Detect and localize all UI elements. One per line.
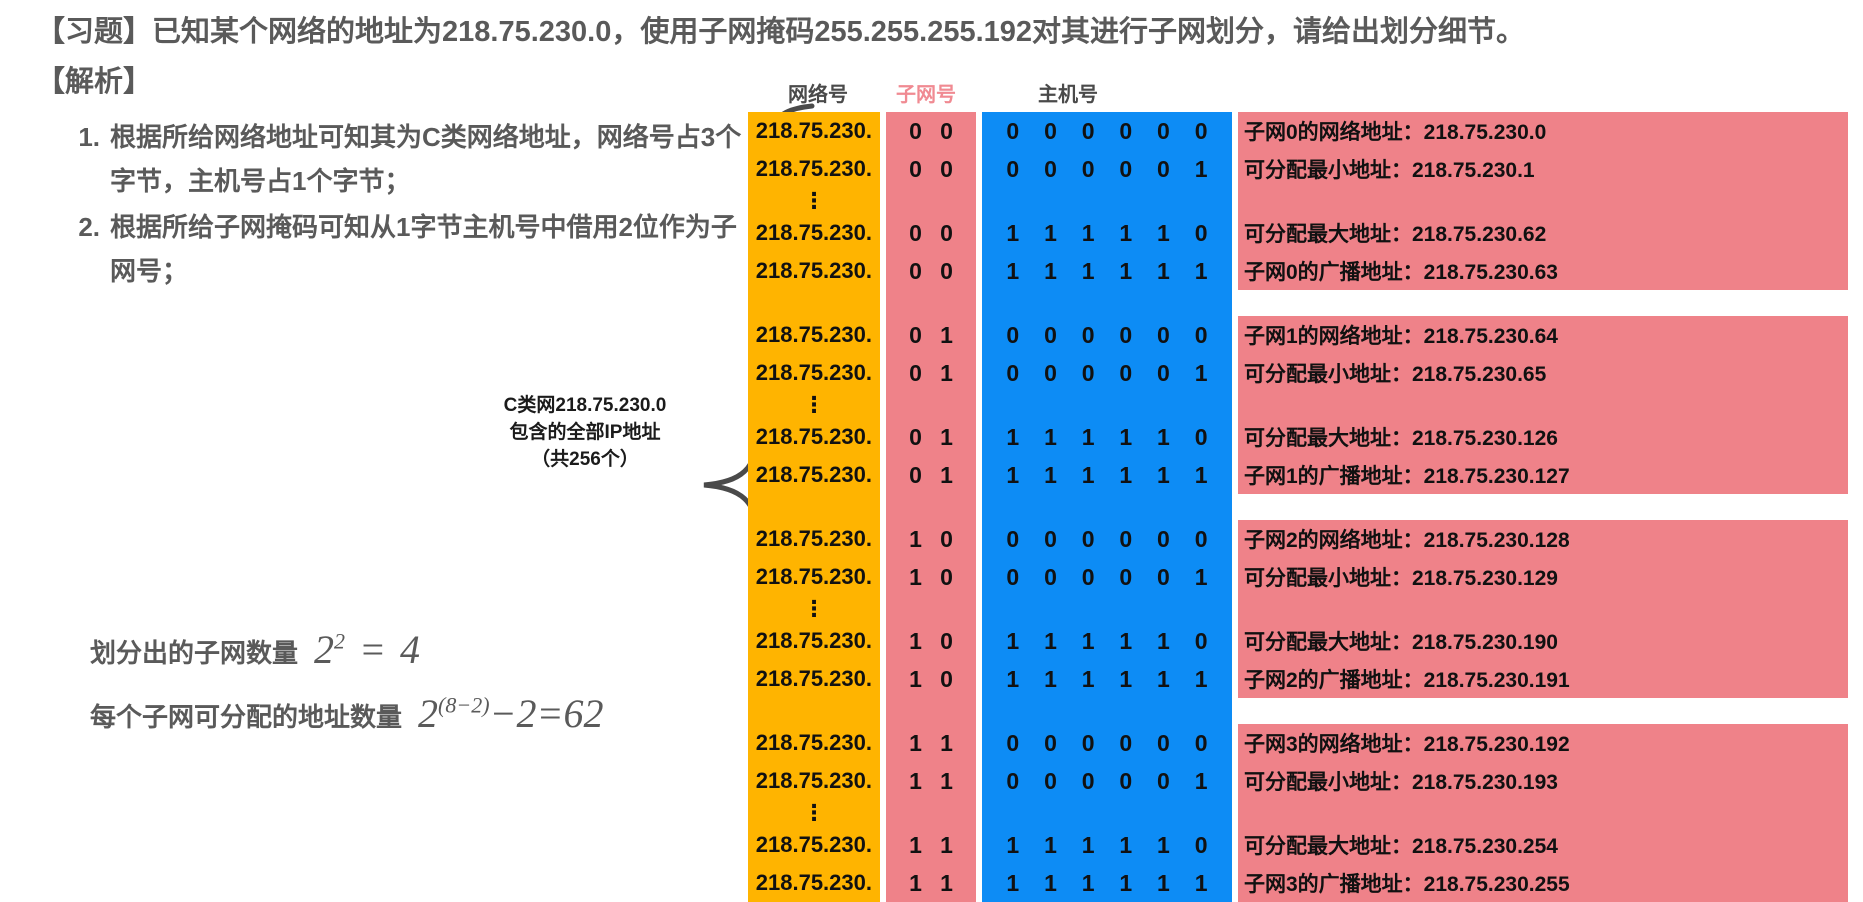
table-row: 218.75.230.10111111子网2的广播地址：218.75.230.1… [748, 660, 1848, 698]
host-bit: 0 [1044, 322, 1057, 349]
network-prefix-cell: 218.75.230. [748, 214, 880, 252]
column-header-subnet: 子网号 [896, 78, 956, 107]
host-bits-cell [982, 800, 1232, 826]
host-bit: 1 [1119, 424, 1132, 451]
host-bits-cell [982, 494, 1232, 520]
address-description: 子网0的广播地址：218.75.230.63 [1238, 252, 1848, 290]
brace-annotation: C类网218.75.230.0 包含的全部IP地址 （共256个） [470, 392, 700, 473]
network-prefix-cell: 218.75.230. [748, 150, 880, 188]
host-bit: 0 [1006, 156, 1019, 183]
formula-block: 划分出的子网数量 22=4 每个子网可分配的地址数量 2(8−2)−2=62 [90, 630, 750, 758]
address-description: 可分配最小地址：218.75.230.1 [1238, 150, 1848, 188]
table-row: ⋮ [748, 596, 1848, 622]
network-prefix-cell: 218.75.230. [748, 252, 880, 290]
host-bits-cell: 000000 [982, 316, 1232, 354]
network-prefix-cell: 218.75.230. [748, 864, 880, 902]
host-bit: 0 [1044, 156, 1057, 183]
table-row: 218.75.230.11111111子网3的广播地址：218.75.230.2… [748, 864, 1848, 902]
host-bits-cell [982, 392, 1232, 418]
host-bit: 1 [1044, 424, 1057, 451]
address-description-empty [1238, 188, 1848, 214]
network-prefix-cell: 218.75.230. [748, 558, 880, 596]
host-bit: 0 [1195, 730, 1208, 757]
host-bit: 0 [1119, 360, 1132, 387]
host-bit: 1 [1006, 424, 1019, 451]
table-row: 218.75.230.10111110可分配最大地址：218.75.230.19… [748, 622, 1848, 660]
table-row: ⋮ [748, 188, 1848, 214]
network-prefix-cell [748, 494, 880, 520]
formula-host-count: 每个子网可分配的地址数量 2(8−2)−2=62 [90, 694, 750, 734]
subnet-bit: 1 [940, 462, 953, 489]
subnet-bit: 0 [909, 156, 922, 183]
subnet-bits-cell: 10 [886, 558, 976, 596]
host-bits-cell: 000000 [982, 112, 1232, 150]
host-bit: 0 [1157, 564, 1170, 591]
host-bit: 1 [1006, 666, 1019, 693]
host-bit: 0 [1195, 322, 1208, 349]
host-bit: 0 [1195, 832, 1208, 859]
subnet-bits-cell [886, 494, 976, 520]
subnet-bits-cell: 00 [886, 214, 976, 252]
host-bits-cell: 000001 [982, 558, 1232, 596]
address-description-empty [1238, 596, 1848, 622]
address-description: 子网2的网络地址：218.75.230.128 [1238, 520, 1848, 558]
subnet-table: 网络号 子网号 主机号 218.75.230.00000000子网0的网络地址：… [748, 78, 1848, 902]
host-bit: 0 [1044, 118, 1057, 145]
host-bits-cell [982, 596, 1232, 622]
network-ellipsis: ⋮ [748, 596, 880, 622]
host-bits-cell: 111111 [982, 456, 1232, 494]
host-bits-cell: 000001 [982, 150, 1232, 188]
page-title: 【习题】已知某个网络的地址为218.75.230.0，使用子网掩码255.255… [36, 8, 1846, 50]
host-bit: 0 [1195, 628, 1208, 655]
host-bit: 0 [1157, 156, 1170, 183]
host-bit: 0 [1157, 768, 1170, 795]
host-bit: 0 [1044, 526, 1057, 553]
host-bit: 0 [1195, 424, 1208, 451]
subnet-bit: 1 [940, 360, 953, 387]
formula-subnet-count: 划分出的子网数量 22=4 [90, 630, 750, 670]
vertical-dots-icon: ⋮ [748, 803, 880, 823]
host-bit: 0 [1082, 564, 1095, 591]
subnet-bits-cell: 00 [886, 112, 976, 150]
host-bit: 1 [1119, 258, 1132, 285]
table-row: 218.75.230.11000000子网3的网络地址：218.75.230.1… [748, 724, 1848, 762]
host-bit: 0 [1157, 730, 1170, 757]
table-row: 218.75.230.01111110可分配最大地址：218.75.230.12… [748, 418, 1848, 456]
analysis-label: 【解析】 [36, 58, 152, 100]
subnet-bits-cell: 10 [886, 660, 976, 698]
address-description: 可分配最小地址：218.75.230.129 [1238, 558, 1848, 596]
subnet-bit: 1 [909, 628, 922, 655]
formula-exponent: (8−2) [438, 693, 490, 718]
column-header-network: 网络号 [788, 78, 848, 107]
network-prefix-cell: 218.75.230. [748, 316, 880, 354]
subnet-bit: 0 [940, 156, 953, 183]
host-bit: 0 [1195, 526, 1208, 553]
subnet-bit: 0 [940, 526, 953, 553]
vertical-dots-icon: ⋮ [748, 191, 880, 211]
subnet-bits-cell: 01 [886, 354, 976, 392]
host-bit: 0 [1157, 526, 1170, 553]
subnet-bit: 0 [909, 258, 922, 285]
address-description: 可分配最大地址：218.75.230.126 [1238, 418, 1848, 456]
host-bit: 0 [1006, 768, 1019, 795]
host-bit: 1 [1157, 220, 1170, 247]
host-bit: 0 [1044, 360, 1057, 387]
host-bit: 1 [1195, 258, 1208, 285]
network-prefix-cell: 218.75.230. [748, 622, 880, 660]
table-row: ⋮ [748, 392, 1848, 418]
solution-steps: 1. 根据所给网络地址可知其为C类网络地址，网络号占3个字节，主机号占1个字节；… [58, 115, 748, 295]
table-row: 218.75.230.00000001可分配最小地址：218.75.230.1 [748, 150, 1848, 188]
network-prefix-cell: 218.75.230. [748, 724, 880, 762]
network-prefix-cell: 218.75.230. [748, 354, 880, 392]
host-bit: 1 [1119, 666, 1132, 693]
host-bit: 1 [1119, 832, 1132, 859]
table-row: 218.75.230.00000000子网0的网络地址：218.75.230.0 [748, 112, 1848, 150]
brace-annotation-line2: 包含的全部IP地址 [470, 419, 700, 446]
subnet-bits-cell: 01 [886, 418, 976, 456]
host-bits-cell: 111110 [982, 214, 1232, 252]
host-bit: 0 [1006, 118, 1019, 145]
host-bit: 0 [1082, 360, 1095, 387]
subnet-bit: 0 [940, 628, 953, 655]
subnet-bits-cell: 10 [886, 622, 976, 660]
host-bit: 0 [1119, 526, 1132, 553]
host-bit: 0 [1119, 768, 1132, 795]
formula-label: 每个子网可分配的地址数量 [90, 697, 402, 734]
address-description-empty [1238, 392, 1848, 418]
address-description: 可分配最小地址：218.75.230.193 [1238, 762, 1848, 800]
address-description-empty [1238, 290, 1848, 316]
formula-exponent: 2 [334, 629, 345, 654]
brace-annotation-line3: （共256个） [470, 446, 700, 473]
formula-base: 2 [314, 627, 334, 672]
host-bit: 1 [1006, 832, 1019, 859]
host-bits-cell: 000000 [982, 520, 1232, 558]
host-bit: 1 [1157, 462, 1170, 489]
network-prefix-cell: 218.75.230. [748, 456, 880, 494]
host-bits-cell [982, 698, 1232, 724]
host-bit: 1 [1006, 220, 1019, 247]
address-description: 子网2的广播地址：218.75.230.191 [1238, 660, 1848, 698]
network-ellipsis: ⋮ [748, 188, 880, 214]
list-item-text: 根据所给网络地址可知其为C类网络地址，网络号占3个字节，主机号占1个字节； [110, 115, 748, 203]
subnet-bits-cell: 11 [886, 724, 976, 762]
host-bit: 1 [1119, 220, 1132, 247]
table-column-headers: 网络号 子网号 主机号 [748, 78, 1848, 108]
brace-annotation-line1: C类网218.75.230.0 [470, 392, 700, 419]
table-row: 218.75.230.00111111子网0的广播地址：218.75.230.6… [748, 252, 1848, 290]
host-bit: 0 [1119, 156, 1132, 183]
subnet-bit: 0 [940, 564, 953, 591]
host-bit: 1 [1006, 462, 1019, 489]
host-bit: 1 [1119, 462, 1132, 489]
subnet-bits-cell [886, 596, 976, 622]
subnet-bits-cell: 11 [886, 826, 976, 864]
formula-result: −2=62 [490, 691, 604, 736]
address-description: 可分配最小地址：218.75.230.65 [1238, 354, 1848, 392]
host-bits-cell: 111110 [982, 622, 1232, 660]
network-prefix-cell [748, 698, 880, 724]
host-bit: 1 [1044, 462, 1057, 489]
table-row [748, 494, 1848, 520]
host-bit: 1 [1195, 156, 1208, 183]
host-bit: 1 [1119, 870, 1132, 897]
host-bit: 0 [1006, 322, 1019, 349]
host-bit: 0 [1006, 360, 1019, 387]
host-bit: 0 [1195, 118, 1208, 145]
list-item-number: 1. [58, 115, 110, 203]
list-item: 1. 根据所给网络地址可知其为C类网络地址，网络号占3个字节，主机号占1个字节； [58, 115, 748, 203]
subnet-bits-cell [886, 698, 976, 724]
table-row [748, 290, 1848, 316]
host-bit: 1 [1044, 666, 1057, 693]
host-bits-cell: 111111 [982, 660, 1232, 698]
host-bit: 1 [1082, 870, 1095, 897]
list-item-text: 根据所给子网掩码可知从1字节主机号中借用2位作为子网号； [110, 205, 748, 293]
address-description: 子网1的网络地址：218.75.230.64 [1238, 316, 1848, 354]
host-bit: 0 [1006, 730, 1019, 757]
host-bit: 1 [1119, 628, 1132, 655]
address-description: 子网3的网络地址：218.75.230.192 [1238, 724, 1848, 762]
subnet-bit: 1 [909, 870, 922, 897]
formula-expression: 22=4 [314, 630, 420, 670]
host-bit: 0 [1044, 768, 1057, 795]
host-bit: 0 [1082, 526, 1095, 553]
subnet-bit: 0 [940, 220, 953, 247]
host-bit: 1 [1044, 628, 1057, 655]
subnet-bits-cell: 11 [886, 864, 976, 902]
host-bit: 0 [1082, 768, 1095, 795]
table-row: 218.75.230.11111110可分配最大地址：218.75.230.25… [748, 826, 1848, 864]
host-bit: 0 [1082, 730, 1095, 757]
address-description: 可分配最大地址：218.75.230.190 [1238, 622, 1848, 660]
host-bit: 0 [1006, 564, 1019, 591]
subnet-bit: 1 [909, 526, 922, 553]
formula-base: 2 [418, 691, 438, 736]
host-bit: 1 [1082, 462, 1095, 489]
subnet-bits-cell [886, 290, 976, 316]
host-bits-cell: 000000 [982, 724, 1232, 762]
subnet-bit: 1 [940, 730, 953, 757]
host-bit: 0 [1082, 322, 1095, 349]
subnet-bits-cell [886, 392, 976, 418]
subnet-bit: 1 [909, 832, 922, 859]
subnet-bit: 1 [940, 768, 953, 795]
host-bit: 0 [1044, 564, 1057, 591]
vertical-dots-icon: ⋮ [748, 599, 880, 619]
network-ellipsis: ⋮ [748, 800, 880, 826]
table-row [748, 698, 1848, 724]
network-prefix-cell: 218.75.230. [748, 826, 880, 864]
host-bit: 0 [1119, 730, 1132, 757]
table-row: ⋮ [748, 800, 1848, 826]
subnet-bits-cell: 10 [886, 520, 976, 558]
subnet-bit: 0 [909, 360, 922, 387]
subnet-bits-cell: 00 [886, 252, 976, 290]
host-bits-cell: 111110 [982, 826, 1232, 864]
host-bit: 0 [1157, 322, 1170, 349]
host-bits-cell [982, 188, 1232, 214]
subnet-bit: 1 [909, 730, 922, 757]
host-bit: 1 [1157, 666, 1170, 693]
host-bit: 1 [1157, 870, 1170, 897]
host-bit: 1 [1082, 258, 1095, 285]
subnet-bit: 0 [909, 322, 922, 349]
host-bit: 1 [1082, 220, 1095, 247]
subnet-bit: 0 [909, 118, 922, 145]
subnet-bits-cell [886, 188, 976, 214]
subnet-bits-cell [886, 800, 976, 826]
list-item-number: 2. [58, 205, 110, 293]
host-bit: 1 [1082, 832, 1095, 859]
network-prefix-cell [748, 290, 880, 316]
host-bits-cell: 000001 [982, 762, 1232, 800]
network-prefix-cell: 218.75.230. [748, 520, 880, 558]
vertical-dots-icon: ⋮ [748, 395, 880, 415]
table-row: 218.75.230.11000001可分配最小地址：218.75.230.19… [748, 762, 1848, 800]
host-bit: 1 [1044, 832, 1057, 859]
address-description: 子网1的广播地址：218.75.230.127 [1238, 456, 1848, 494]
host-bit: 0 [1119, 322, 1132, 349]
host-bit: 1 [1157, 424, 1170, 451]
host-bit: 1 [1006, 870, 1019, 897]
subnet-bits-cell: 01 [886, 316, 976, 354]
table-row: 218.75.230.01000001可分配最小地址：218.75.230.65 [748, 354, 1848, 392]
host-bit: 1 [1195, 360, 1208, 387]
address-description-empty [1238, 494, 1848, 520]
subnet-bits-cell: 11 [886, 762, 976, 800]
host-bit: 1 [1157, 258, 1170, 285]
subnet-bits-cell: 00 [886, 150, 976, 188]
subnet-bit: 0 [940, 666, 953, 693]
host-bit: 0 [1082, 118, 1095, 145]
table-row: 218.75.230.10000001可分配最小地址：218.75.230.12… [748, 558, 1848, 596]
address-description-empty [1238, 800, 1848, 826]
address-description: 可分配最大地址：218.75.230.254 [1238, 826, 1848, 864]
table-row: 218.75.230.01000000子网1的网络地址：218.75.230.6… [748, 316, 1848, 354]
host-bit: 1 [1006, 628, 1019, 655]
host-bit: 1 [1195, 462, 1208, 489]
host-bits-cell: 111111 [982, 864, 1232, 902]
host-bit: 1 [1006, 258, 1019, 285]
subnet-bit: 1 [909, 666, 922, 693]
host-bit: 1 [1082, 628, 1095, 655]
formula-expression: 2(8−2)−2=62 [418, 694, 603, 734]
host-bit: 0 [1157, 360, 1170, 387]
subnet-bits-cell: 01 [886, 456, 976, 494]
host-bits-cell [982, 290, 1232, 316]
subnet-bit: 1 [940, 832, 953, 859]
subnet-bit: 0 [909, 220, 922, 247]
host-bit: 0 [1119, 118, 1132, 145]
host-bit: 1 [1195, 768, 1208, 795]
formula-label: 划分出的子网数量 [90, 633, 298, 670]
subnet-bit: 0 [940, 118, 953, 145]
host-bit: 1 [1044, 870, 1057, 897]
subnet-bit: 0 [909, 462, 922, 489]
network-prefix-cell: 218.75.230. [748, 660, 880, 698]
address-description: 子网0的网络地址：218.75.230.0 [1238, 112, 1848, 150]
network-prefix-cell: 218.75.230. [748, 762, 880, 800]
subnet-bit: 0 [940, 258, 953, 285]
subnet-bit: 1 [940, 870, 953, 897]
host-bit: 1 [1082, 666, 1095, 693]
host-bit: 0 [1006, 526, 1019, 553]
table-row: 218.75.230.10000000子网2的网络地址：218.75.230.1… [748, 520, 1848, 558]
subnet-bit: 1 [940, 322, 953, 349]
subnet-bit: 1 [940, 424, 953, 451]
address-description: 子网3的广播地址：218.75.230.255 [1238, 864, 1848, 902]
column-header-host: 主机号 [1038, 78, 1098, 107]
host-bits-cell: 111110 [982, 418, 1232, 456]
host-bit: 0 [1157, 118, 1170, 145]
host-bit: 0 [1195, 220, 1208, 247]
network-prefix-cell: 218.75.230. [748, 112, 880, 150]
list-item: 2. 根据所给子网掩码可知从1字节主机号中借用2位作为子网号； [58, 205, 748, 293]
host-bit: 1 [1157, 628, 1170, 655]
table-row: 218.75.230.01111111子网1的广播地址：218.75.230.1… [748, 456, 1848, 494]
table-row: 218.75.230.00111110可分配最大地址：218.75.230.62 [748, 214, 1848, 252]
address-description: 可分配最大地址：218.75.230.62 [1238, 214, 1848, 252]
host-bit: 1 [1195, 666, 1208, 693]
subnet-bit: 0 [909, 424, 922, 451]
host-bit: 1 [1195, 870, 1208, 897]
address-description-empty [1238, 698, 1848, 724]
subnet-bit: 1 [909, 768, 922, 795]
formula-equals: = [359, 627, 386, 672]
host-bits-cell: 111111 [982, 252, 1232, 290]
host-bit: 1 [1082, 424, 1095, 451]
host-bit: 0 [1119, 564, 1132, 591]
host-bit: 1 [1195, 564, 1208, 591]
host-bit: 0 [1082, 156, 1095, 183]
host-bits-cell: 000001 [982, 354, 1232, 392]
subnet-bit: 1 [909, 564, 922, 591]
formula-result: 4 [400, 627, 420, 672]
host-bit: 1 [1157, 832, 1170, 859]
network-ellipsis: ⋮ [748, 392, 880, 418]
host-bit: 1 [1044, 220, 1057, 247]
host-bit: 0 [1044, 730, 1057, 757]
host-bit: 1 [1044, 258, 1057, 285]
network-prefix-cell: 218.75.230. [748, 418, 880, 456]
table-body: 218.75.230.00000000子网0的网络地址：218.75.230.0… [748, 112, 1848, 902]
